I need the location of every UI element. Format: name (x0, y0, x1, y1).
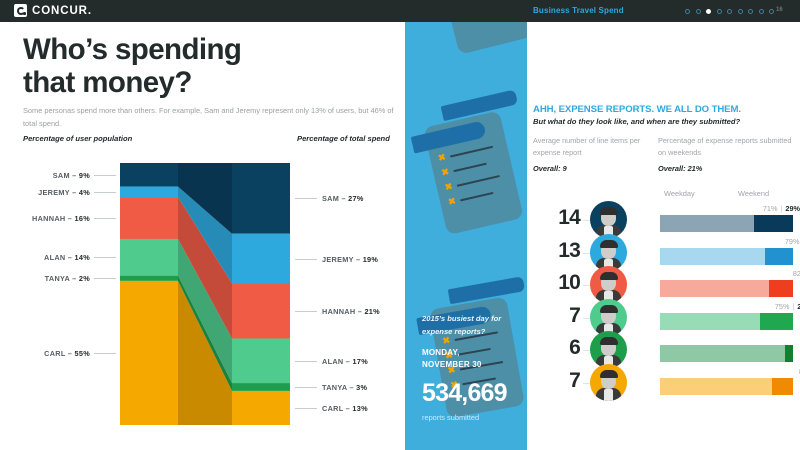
right-label-hannah: HANNAH – 21% (322, 307, 380, 316)
avatar (590, 201, 627, 238)
busiest-day-question: 2015’s busiest day for expense reports? (422, 313, 520, 338)
right-label-value: 21% (364, 307, 380, 316)
table-row: 1379%|21% (527, 237, 800, 267)
left-leader-line-alan (94, 257, 116, 258)
line-items-value: 7 (527, 304, 580, 328)
bar-track (660, 280, 793, 297)
avatar (590, 234, 627, 271)
weekend-bar-segment (765, 248, 793, 265)
right-bar-segment-sam (232, 163, 290, 234)
right-label-value: 17% (352, 357, 368, 366)
pagination-dot-6[interactable] (738, 9, 743, 14)
line-items-value: 10 (527, 271, 580, 295)
left-label-hannah: HANNAH – 16% (32, 214, 90, 223)
receipt-x-mark: ✖ (441, 168, 449, 176)
weekday-weekend-bar: 75%|25% (660, 302, 793, 332)
busiest-day-copy: 2015’s busiest day for expense reports? … (422, 313, 520, 422)
left-label-value: 2% (79, 274, 90, 283)
weekend-bar-segment (760, 313, 793, 330)
avatar-hair (600, 305, 618, 313)
avatar (590, 266, 627, 303)
column-2-overall: Overall: 21% (658, 164, 702, 173)
bar-track (660, 345, 793, 362)
left-label-name: HANNAH – (32, 214, 74, 223)
column-2-description: Percentage of expense reports submitted … (658, 135, 793, 159)
bar-track (660, 215, 793, 232)
right-label-name: ALAN – (322, 357, 352, 366)
avatar-hair (600, 337, 618, 345)
weekday-percent: 75% (775, 302, 790, 311)
pagination-dot-3[interactable] (706, 9, 711, 14)
busiest-day-monthday: NOVEMBER 30 (422, 359, 520, 371)
pagination-dot-5[interactable] (727, 9, 732, 14)
right-label-alan: ALAN – 17% (322, 357, 368, 366)
busiest-day-weekday: MONDAY, (422, 347, 520, 359)
left-label-name: SAM – (53, 171, 79, 180)
right-label-value: 27% (348, 194, 364, 203)
right-bar-segment-alan (232, 339, 290, 384)
busiest-day-date: MONDAY, NOVEMBER 30 (422, 347, 520, 370)
weekday-bar-segment (660, 215, 754, 232)
deck-title: Business Travel Spend (533, 6, 624, 15)
bar-track (660, 378, 793, 395)
weekday-percent: 79% (785, 237, 800, 246)
right-leader-line-tanya (295, 387, 317, 388)
left-bar-segment-hannah (120, 197, 178, 239)
table-row: 694%|6% (527, 334, 800, 364)
right-label-name: HANNAH – (322, 307, 364, 316)
left-bar-segment-sam (120, 163, 178, 187)
infographic-slide: CONCUR. Business Travel Spend 16 Who’s s… (0, 0, 800, 450)
avatar-face (599, 369, 618, 401)
left-label-value: 16% (74, 214, 90, 223)
avatar (590, 331, 627, 368)
right-leader-line-alan (295, 361, 317, 362)
weekday-weekend-bar: 94%|6% (660, 334, 793, 364)
right-leader-line-hannah (295, 311, 317, 312)
reports-count-caption: reports submitted (422, 413, 520, 422)
left-bar-segment-alan (120, 239, 178, 276)
pagination-dot-8[interactable] (759, 9, 764, 14)
weekday-weekend-bar: 84%|16% (660, 367, 793, 397)
right-label-sam: SAM – 27% (322, 194, 364, 203)
weekday-weekend-bar: 79%|21% (660, 237, 793, 267)
avatar (590, 364, 627, 401)
pagination-dot-9[interactable] (769, 9, 774, 14)
weekend-bar-segment (769, 280, 793, 297)
receipt-body (433, 22, 527, 55)
percent-separator: | (792, 302, 794, 311)
table-row: 1471%|29% (527, 204, 800, 234)
right-label-value: 13% (352, 404, 368, 413)
left-label-jeremy: JEREMY – 4% (38, 188, 90, 197)
left-leader-line-hannah (94, 218, 116, 219)
weekend-bar-segment (785, 345, 793, 362)
right-bar-segment-tanya (232, 383, 290, 391)
expense-reports-panel: AHH, EXPENSE REPORTS. WE ALL DO THEM. Bu… (527, 22, 800, 450)
left-label-carl: CARL – 55% (44, 349, 90, 358)
right-bar-segment-jeremy (232, 234, 290, 284)
weekday-percent: 71% (763, 204, 778, 213)
weekday-bar-segment (660, 248, 765, 265)
page-number: 16 (776, 7, 783, 13)
weekday-weekend-bar: 71%|29% (660, 204, 793, 234)
left-label-tanya: TANYA – 2% (45, 274, 90, 283)
section-subtitle: But what do they look like, and when are… (533, 117, 740, 126)
receipt-x-mark: ✖ (438, 154, 446, 162)
bar-track (660, 313, 793, 330)
weekday-percent: 82% (793, 269, 800, 278)
left-leader-line-tanya (94, 278, 116, 279)
left-leader-line-sam (94, 175, 116, 176)
weekday-bar-segment (660, 378, 772, 395)
weekend-bar-segment (754, 215, 793, 232)
weekend-column-header: Weekend (738, 189, 769, 198)
right-label-name: SAM – (322, 194, 348, 203)
table-row: 775%|25% (527, 302, 800, 332)
right-bar-segment-carl (232, 391, 290, 425)
pagination-dot-1[interactable] (685, 9, 690, 14)
avatar (590, 299, 627, 336)
left-bar-segment-tanya (120, 276, 178, 281)
receipt-x-mark: ✖ (448, 198, 456, 206)
table-row: 784%|16% (527, 367, 800, 397)
avatar-hair (600, 207, 618, 215)
avatar-hair (600, 272, 618, 280)
avatar-shirt (604, 389, 613, 401)
left-label-name: CARL – (44, 349, 74, 358)
avatar-hair (600, 240, 618, 248)
left-bar-segment-jeremy (120, 187, 178, 197)
left-leader-line-jeremy (94, 192, 116, 193)
left-label-value: 55% (74, 349, 90, 358)
left-bar-segment-carl (120, 281, 178, 425)
line-items-value: 7 (527, 369, 580, 393)
weekend-bar-segment (772, 378, 793, 395)
section-title: AHH, EXPENSE REPORTS. WE ALL DO THEM. (533, 104, 741, 115)
right-label-name: CARL – (322, 404, 352, 413)
left-label-name: ALAN – (44, 253, 74, 262)
line-items-value: 13 (527, 239, 580, 263)
left-label-sam: SAM – 9% (53, 171, 90, 180)
line-items-value: 14 (527, 206, 580, 230)
weekday-bar-segment (660, 313, 760, 330)
bar-track (660, 248, 793, 265)
weekend-percent: 29% (785, 204, 800, 213)
right-label-value: 19% (363, 255, 379, 264)
busiest-day-panel: ✖✖✖✖✖✖✖✖✖ 2015’s busiest day for expense… (405, 22, 527, 450)
right-label-name: JEREMY – (322, 255, 363, 264)
right-label-tanya: TANYA – 3% (322, 383, 367, 392)
percent-separator: | (780, 204, 782, 213)
right-label-jeremy: JEREMY – 19% (322, 255, 378, 264)
pagination-dot-2[interactable] (696, 9, 701, 14)
column-1-description: Average number of line items per expense… (533, 135, 653, 159)
receipt-x-mark: ✖ (444, 183, 452, 191)
right-leader-line-carl (295, 408, 317, 409)
weekday-bar-segment (660, 280, 769, 297)
left-label-name: JEREMY – (38, 188, 79, 197)
column-1-overall: Overall: 9 (533, 164, 567, 173)
weekday-bar-segment (660, 345, 785, 362)
table-row: 1082%|18% (527, 269, 800, 299)
right-label-name: TANYA – (322, 383, 356, 392)
left-leader-line-carl (94, 353, 116, 354)
pagination-dot-4[interactable] (717, 9, 722, 14)
left-label-value: 9% (79, 171, 90, 180)
right-label-carl: CARL – 13% (322, 404, 368, 413)
left-label-alan: ALAN – 14% (44, 253, 90, 262)
pagination-dot-7[interactable] (748, 9, 753, 14)
right-leader-line-sam (295, 198, 317, 199)
reports-count: 534,669 (422, 379, 520, 408)
right-bar-segment-hannah (232, 284, 290, 339)
left-label-name: TANYA – (45, 274, 79, 283)
weekday-column-header: Weekday (664, 189, 695, 198)
left-label-value: 14% (74, 253, 90, 262)
avatar-hair (600, 370, 618, 378)
line-items-value: 6 (527, 336, 580, 360)
left-label-value: 4% (79, 188, 90, 197)
right-leader-line-jeremy (295, 259, 317, 260)
weekday-weekend-bar: 82%|18% (660, 269, 793, 299)
right-label-value: 3% (356, 383, 367, 392)
slide-pagination[interactable] (685, 9, 774, 14)
